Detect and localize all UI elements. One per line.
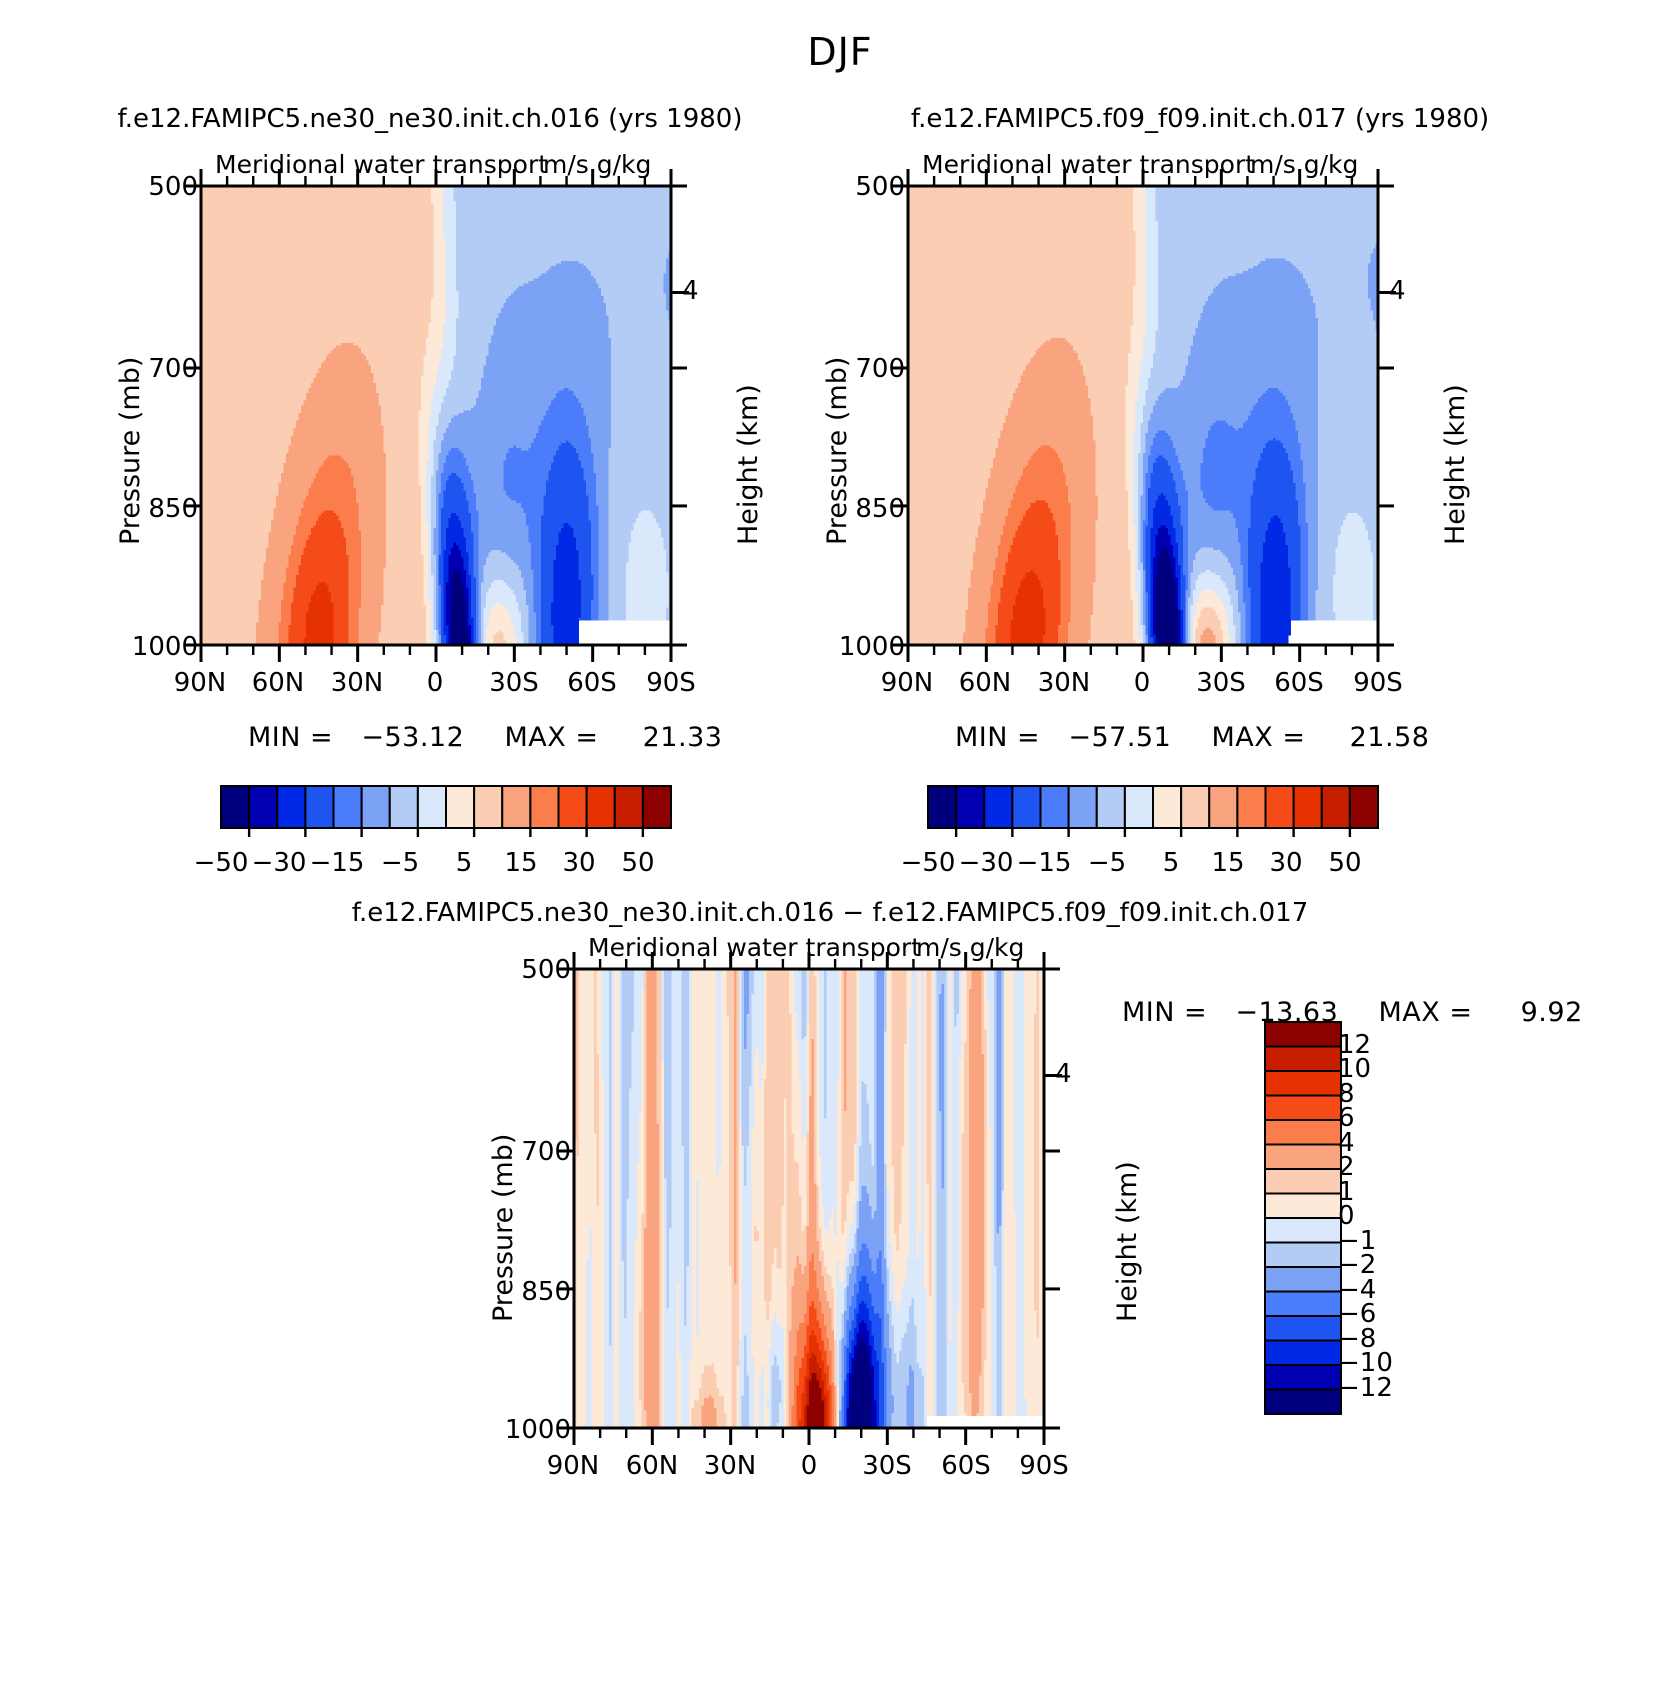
- contour-cell: [609, 618, 627, 621]
- contour-cell: [626, 618, 667, 621]
- contour-cell: [579, 618, 592, 621]
- figure-canvas: [0, 0, 1680, 1683]
- contour-field-top-left: [201, 186, 672, 646]
- contour-field-top-right: [908, 186, 1379, 646]
- contour-cell: [599, 618, 610, 621]
- contour-cell: [591, 618, 599, 621]
